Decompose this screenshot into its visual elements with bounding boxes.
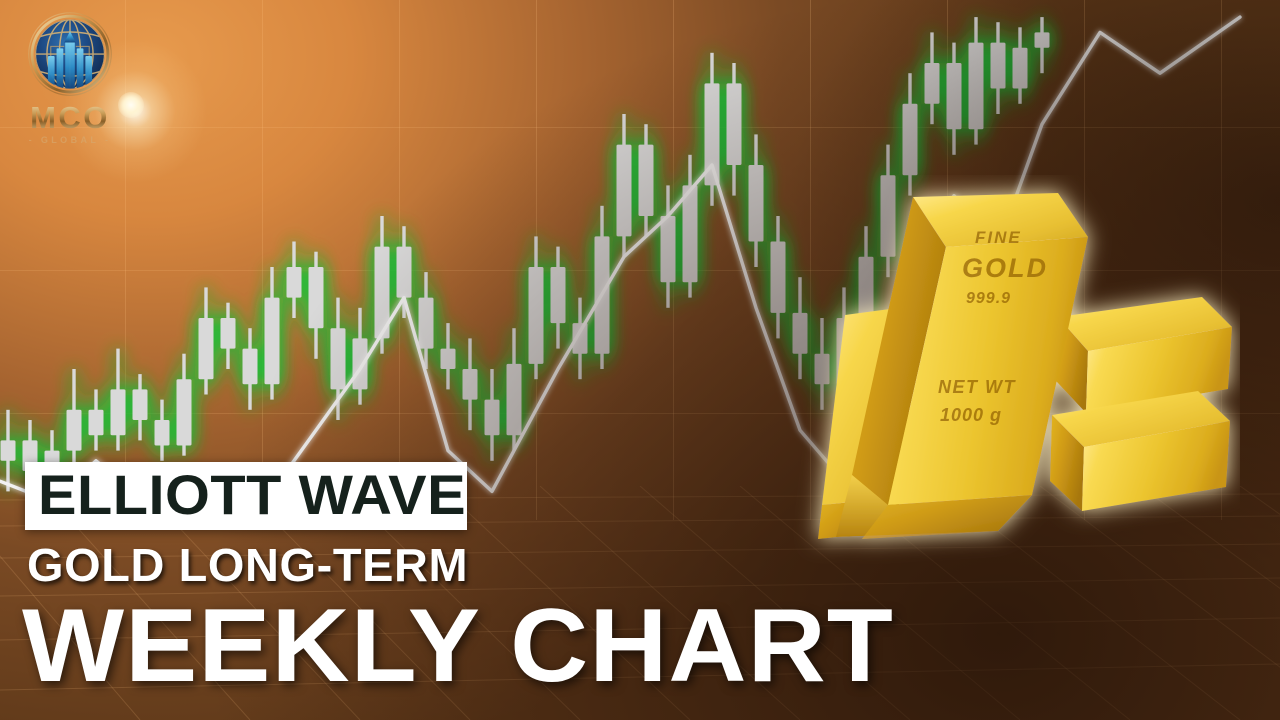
- subtitle-gold-long-term: GOLD LONG-TERM: [27, 542, 1280, 588]
- logo-wordmark: MCO: [18, 102, 122, 133]
- thumbnail-canvas: FINE GOLD 999.9 NET WT 1000 g: [0, 0, 1280, 720]
- gold-bar-text-weight: 1000 g: [940, 405, 1002, 425]
- globe-skyline-emblem-icon: [22, 8, 118, 104]
- title-block: ELLIOTT WAVE GOLD LONG-TERM WEEKLY CHART: [0, 462, 1280, 698]
- headline-weekly-chart: WEEKLY CHART: [22, 594, 1280, 698]
- gold-bar-text-fine: FINE: [975, 228, 1022, 247]
- logo-tagline: - GLOBAL -: [18, 133, 122, 147]
- brand-logo[interactable]: MCO - GLOBAL -: [18, 8, 122, 156]
- gold-bar-text-netwt: NET WT: [938, 377, 1016, 397]
- gold-bar-text-purity: 999.9: [966, 290, 1011, 307]
- banner-label: ELLIOTT WAVE: [38, 469, 466, 521]
- elliott-wave-banner: ELLIOTT WAVE: [25, 462, 467, 530]
- gold-bar-right-upper: [1056, 297, 1232, 413]
- gold-bar-text-gold: GOLD: [962, 253, 1048, 283]
